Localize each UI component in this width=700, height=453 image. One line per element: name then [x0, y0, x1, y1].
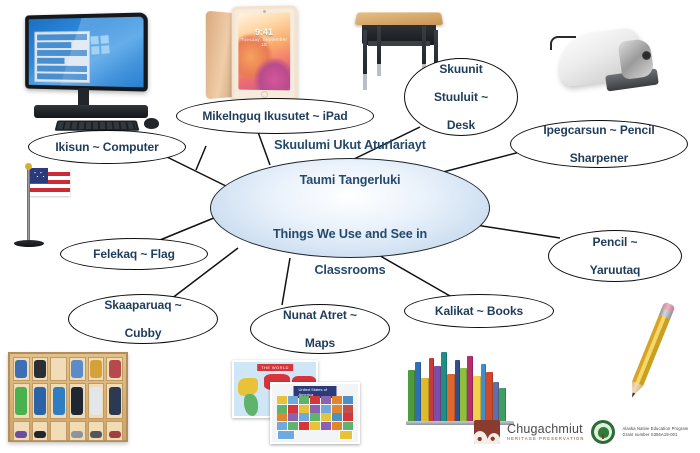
center-line-4: Classrooms: [267, 262, 433, 280]
usa-states-grid: [277, 396, 353, 430]
node-desk-label: SkuunitStuuluit ~Desk: [422, 62, 500, 133]
flag-finial: [25, 163, 32, 170]
desk-foot: [363, 74, 367, 90]
cubby-cell: [32, 383, 49, 419]
cubby-frame: [8, 352, 128, 442]
cubby-row-bottom: [13, 421, 123, 441]
pencil-body-group: [619, 299, 681, 406]
node-flag-label: Felekaq ~ Flag: [87, 247, 181, 261]
alaska-inset: [277, 430, 295, 440]
cubby-cell: [88, 357, 105, 381]
world-and-usa-maps-photo: THE WORLD United States of America: [232, 352, 364, 448]
cubby-cell: [50, 421, 67, 441]
desk-leg: [422, 26, 426, 66]
ipad-tablet-photo: 9:41 Tuesday, September 10: [205, 2, 301, 106]
ipad-front-face: 9:41 Tuesday, September 10: [232, 5, 298, 102]
alaska-native-education-seal-icon: [591, 420, 615, 444]
node-books[interactable]: Kalikat ~ Books: [404, 294, 554, 328]
node-ipad[interactable]: Mikelnguq Ikusutet ~ iPad: [176, 98, 374, 134]
pencil-barrel: [632, 315, 670, 386]
ipad-home-button-icon: [261, 90, 268, 97]
ipad-lockscreen-time: 9:41: [238, 27, 290, 37]
node-sharpener[interactable]: Ipegcarsun ~ PencilSharpener: [510, 120, 688, 168]
monitor-base: [34, 105, 148, 118]
concept-map-canvas: 9:41 Tuesday, September 10: [0, 0, 700, 453]
electric-pencil-sharpener-photo: [550, 14, 690, 106]
cubby-cell: [13, 421, 30, 441]
connector-to-computer: [167, 157, 232, 189]
wooden-cubby-shelf-photo: [8, 352, 132, 446]
cubby-cell: [106, 421, 123, 441]
ipad-wallpaper: 9:41 Tuesday, September 10: [238, 13, 290, 91]
cubby-cell: [50, 383, 67, 419]
center-topic-node[interactable]: Skuulumi Ukut AturlariaytTaumi Tangerluk…: [210, 158, 490, 258]
node-books-label: Kalikat ~ Books: [429, 304, 529, 318]
grant-credit: Alaska Native Education Program Grant nu…: [622, 426, 688, 437]
cubby-cell: [106, 383, 123, 419]
node-computer-label: Ikisun ~ Computer: [49, 140, 164, 154]
flag-canton-stars: [30, 168, 48, 183]
cubby-cell: [32, 421, 49, 441]
connector-flag-arrow-tail: [196, 146, 206, 170]
usa-map-poster: United States of America: [270, 382, 360, 444]
node-computer[interactable]: Ikisun ~ Computer: [28, 130, 186, 164]
cubby-cell: [88, 383, 105, 419]
cubby-cell: [69, 383, 86, 419]
cubby-cell: [69, 357, 86, 381]
american-flag-photo: [14, 168, 78, 252]
cubby-cell: [50, 357, 67, 381]
start-menu-tiles-icon: [34, 31, 90, 83]
cubby-cell: [13, 357, 30, 381]
center-topic-text: Skuulumi Ukut AturlariaytTaumi Tangerluk…: [261, 137, 439, 280]
desk-surface: [355, 12, 444, 25]
node-pencil-label: Pencil ~Yaruutaq: [578, 235, 653, 277]
node-maps[interactable]: Nunat Atret ~Maps: [250, 304, 390, 354]
node-ipad-label: Mikelnguq Ikusutet ~ iPad: [196, 109, 353, 123]
grant-number: Grant number S356A19-001: [622, 432, 688, 438]
books-group: [408, 348, 512, 422]
ipad-lockscreen-date: Tuesday, September 10: [238, 37, 290, 47]
node-cubby-label: Skaaparuaq ~Cubby: [92, 298, 193, 340]
desk-leg: [377, 26, 381, 66]
desk-leg: [363, 30, 367, 76]
node-cubby[interactable]: Skaaparuaq ~Cubby: [68, 294, 218, 344]
node-desk[interactable]: SkuunitStuuluit ~Desk: [404, 58, 518, 136]
pencil-graphite-point: [631, 392, 636, 398]
cubby-row-top: [13, 357, 123, 381]
sharpener-pencil-hole: [642, 51, 651, 60]
node-flag[interactable]: Felekaq ~ Flag: [60, 238, 208, 270]
center-line-1: Skuulumi Ukut Aturlariayt: [267, 137, 433, 155]
monitor-neck: [78, 88, 89, 106]
chugachmiut-logo-icon: [474, 420, 500, 444]
cubby-row-middle: [13, 383, 123, 419]
monitor-screen-icon: [25, 12, 148, 91]
hawaii-inset: [339, 430, 353, 440]
cubby-cell: [106, 357, 123, 381]
flag-base-stand: [14, 240, 44, 247]
mouse-icon: [144, 118, 159, 129]
center-line-3: Things We Use and See in: [267, 226, 433, 244]
cubby-cell: [69, 421, 86, 441]
node-maps-label: Nunat Atret ~Maps: [271, 308, 369, 350]
flag-pole: [27, 168, 30, 242]
cubby-cell: [13, 383, 30, 419]
center-line-2: Taumi Tangerluki: [267, 172, 433, 190]
footer-logo-bar: Chugachmiut HERITAGE PRESERVATION Alaska…: [474, 412, 698, 452]
yellow-pencil-photo: [638, 300, 678, 420]
org-name: Chugachmiut: [507, 423, 584, 436]
world-map-title: THE WORLD: [257, 364, 293, 371]
ipad-camera-icon: [263, 10, 266, 13]
node-pencil[interactable]: Pencil ~Yaruutaq: [548, 230, 682, 282]
desk-foot: [377, 64, 381, 76]
desktop-computer-photo: [16, 10, 166, 135]
org-tagline: HERITAGE PRESERVATION: [507, 437, 584, 441]
cubby-cell: [32, 357, 49, 381]
cubby-cell: [88, 421, 105, 441]
windows-logo-icon: [90, 35, 109, 54]
node-sharpener-label: Ipegcarsun ~ PencilSharpener: [531, 123, 666, 165]
chugachmiut-wordmark: Chugachmiut HERITAGE PRESERVATION: [507, 423, 584, 442]
